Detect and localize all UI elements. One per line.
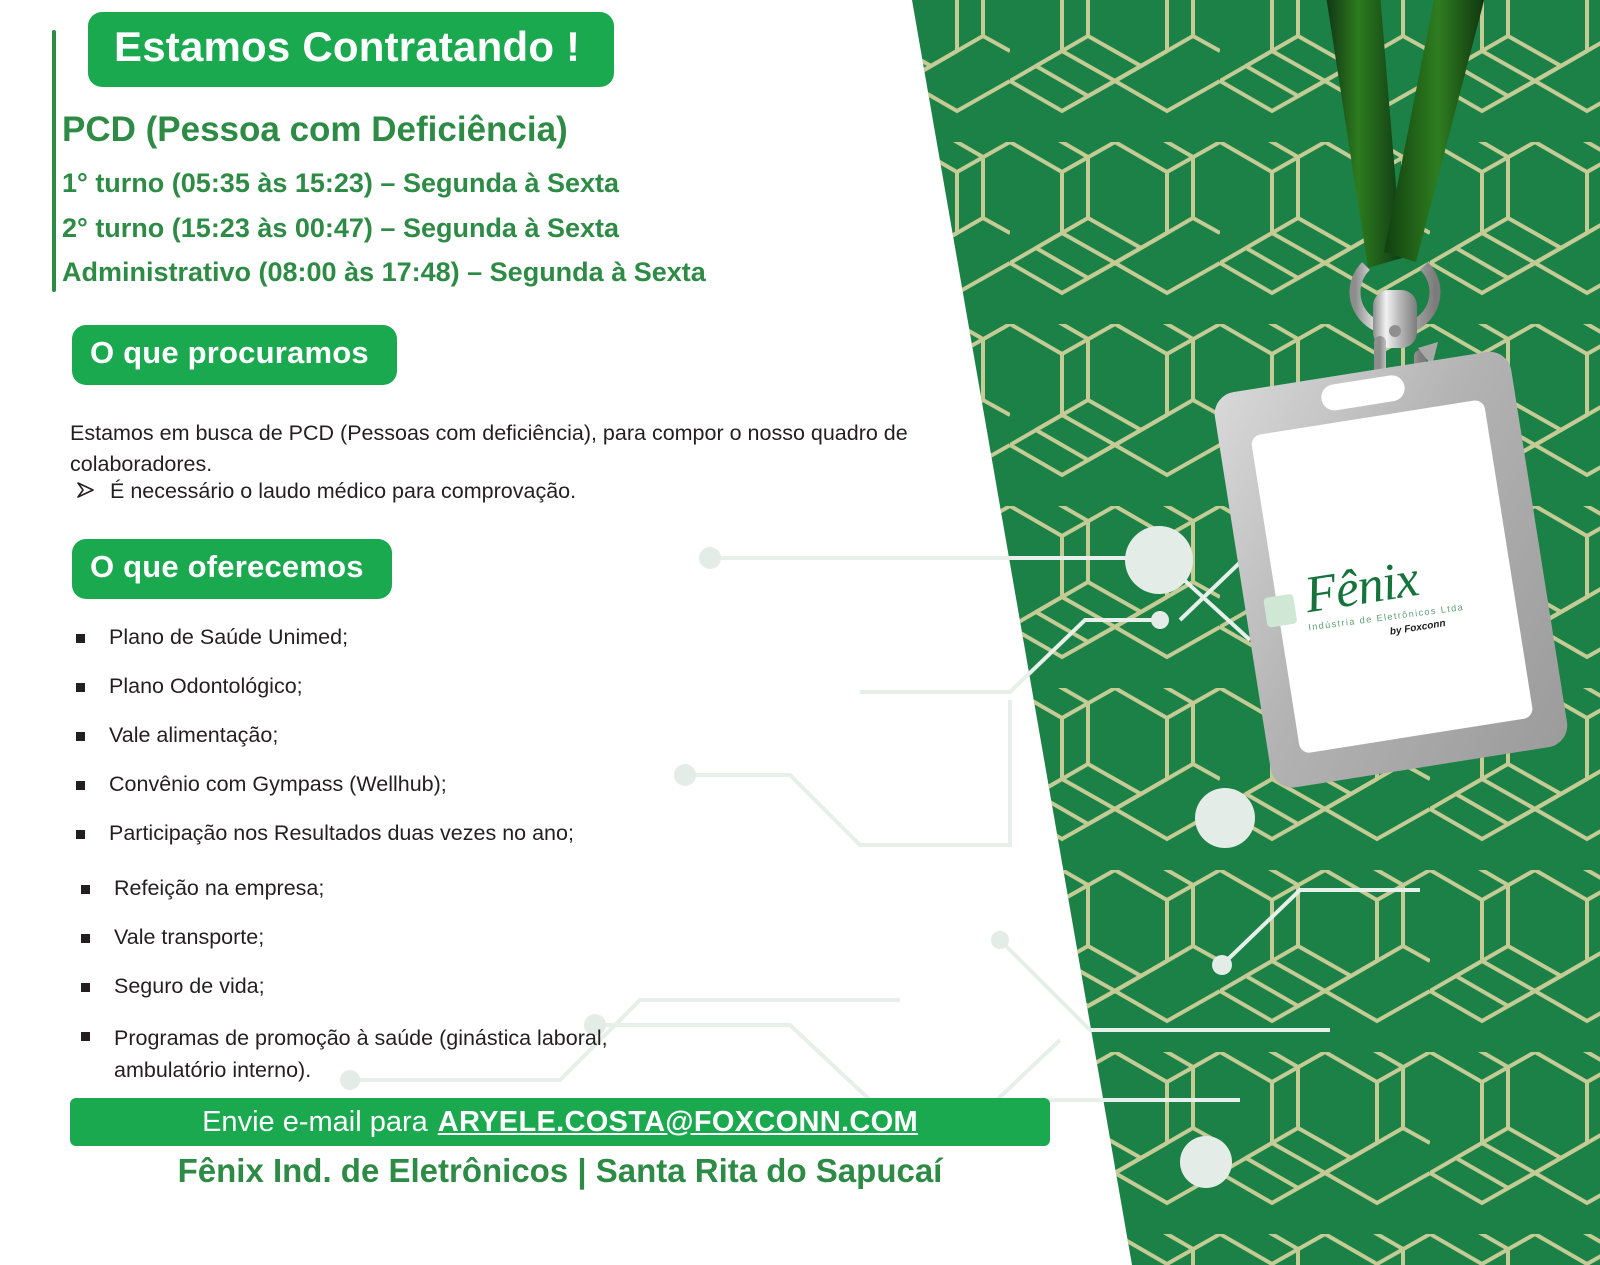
- company-location-line: Fênix Ind. de Eletrônicos | Santa Rita d…: [70, 1152, 1050, 1190]
- role-title: PCD (Pessoa com Deficiência): [62, 110, 568, 150]
- square-bullet-icon: [81, 885, 90, 894]
- square-bullet-icon: [81, 934, 90, 943]
- square-bullet-icon: [76, 830, 85, 839]
- looking-for-intro: Estamos em busca de PCD (Pessoas com def…: [70, 418, 940, 479]
- email-cta-bar[interactable]: Envie e-mail para ARYELE.COSTA@FOXCONN.C…: [70, 1098, 1050, 1146]
- benefit-label: Vale alimentação;: [109, 722, 278, 750]
- square-bullet-icon: [76, 732, 85, 741]
- list-item: Vale transporte;: [76, 924, 976, 952]
- benefit-label: Refeição na empresa;: [114, 875, 324, 903]
- email-prefix-label: Envie e-mail para: [202, 1106, 428, 1139]
- benefit-label: Programas de promoção à saúde (ginástica…: [114, 1022, 634, 1087]
- benefit-label: Convênio com Gympass (Wellhub);: [109, 771, 447, 799]
- shift-line-3: Administrativo (08:00 às 17:48) – Segund…: [62, 257, 706, 288]
- list-item: Refeição na empresa;: [76, 875, 976, 903]
- square-bullet-icon: [81, 1032, 90, 1041]
- section-heading-looking-for: O que procuramos: [72, 325, 397, 385]
- section-heading-offering: O que oferecemos: [72, 539, 392, 599]
- list-item: Programas de promoção à saúde (ginástica…: [76, 1022, 976, 1087]
- requirement-text: É necessário o laudo médico para comprov…: [110, 476, 576, 507]
- requirement-row: É necessário o laudo médico para comprov…: [76, 476, 956, 507]
- chip-icon: [1263, 594, 1297, 628]
- page-title: Estamos Contratando !: [88, 12, 614, 87]
- benefit-label: Plano Odontológico;: [109, 673, 303, 701]
- benefit-label: Seguro de vida;: [114, 973, 265, 1001]
- arrow-bullet-icon: [76, 479, 96, 501]
- email-address-link[interactable]: ARYELE.COSTA@FOXCONN.COM: [438, 1106, 918, 1139]
- list-item: Plano de Saúde Unimed;: [76, 624, 976, 652]
- shift-line-2: 2° turno (15:23 às 00:47) – Segunda à Se…: [62, 213, 619, 244]
- left-accent-rule: [52, 30, 56, 292]
- square-bullet-icon: [76, 634, 85, 643]
- benefits-list: Plano de Saúde Unimed; Plano Odontológic…: [76, 624, 976, 1086]
- shift-line-1: 1° turno (05:35 às 15:23) – Segunda à Se…: [62, 168, 619, 199]
- list-item: Vale alimentação;: [76, 722, 976, 750]
- logo-byline: by Foxconn: [1389, 618, 1446, 638]
- benefit-label: Plano de Saúde Unimed;: [109, 624, 348, 652]
- lanyard-strap-right: [1384, 0, 1492, 262]
- lanyard-badge-graphic: [1170, 0, 1600, 870]
- square-bullet-icon: [76, 781, 85, 790]
- square-bullet-icon: [81, 983, 90, 992]
- square-bullet-icon: [76, 683, 85, 692]
- benefit-label: Participação nos Resultados duas vezes n…: [109, 820, 574, 848]
- list-item: Plano Odontológico;: [76, 673, 976, 701]
- benefit-label: Vale transporte;: [114, 924, 264, 952]
- list-item: Participação nos Resultados duas vezes n…: [76, 820, 976, 848]
- list-item: Convênio com Gympass (Wellhub);: [76, 771, 976, 799]
- job-posting-poster: Estamos Contratando ! PCD (Pessoa com De…: [0, 0, 1600, 1265]
- list-item: Seguro de vida;: [76, 973, 976, 1001]
